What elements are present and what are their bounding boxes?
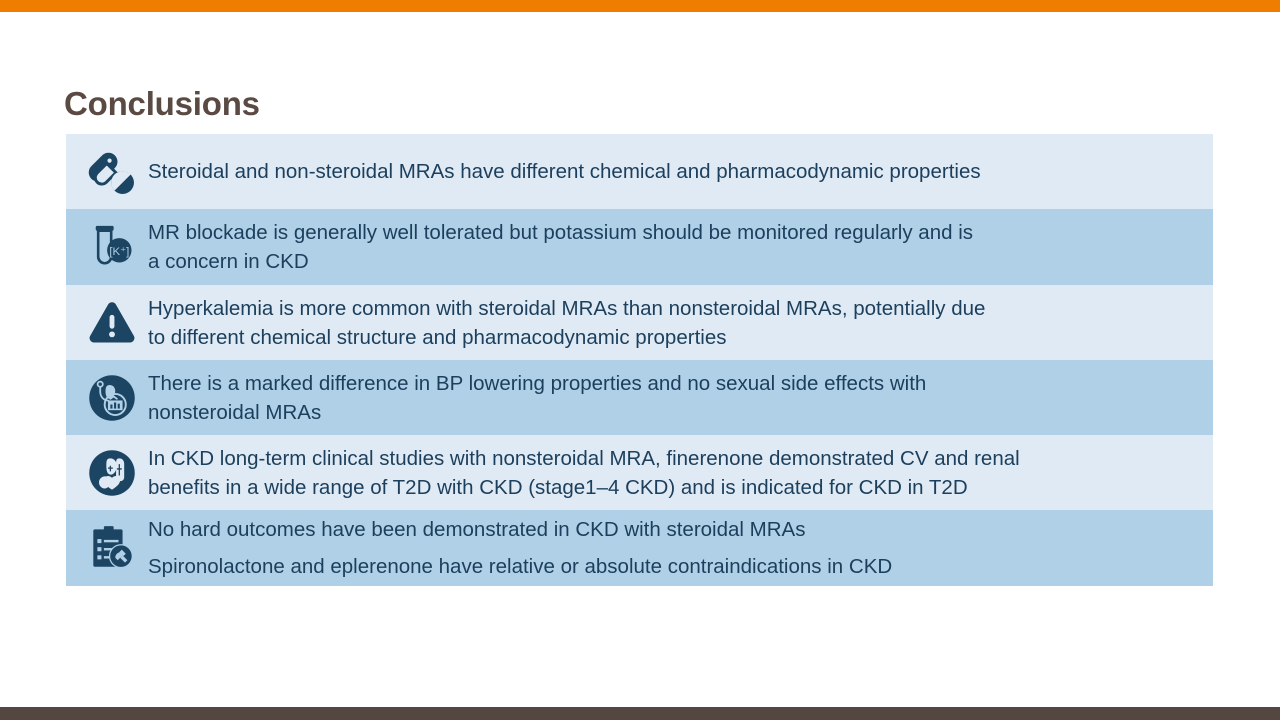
list-item: No hard outcomes have been demonstrated … bbox=[66, 510, 1213, 586]
pills-icon bbox=[76, 134, 147, 209]
list-item: In CKD long-term clinical studies with n… bbox=[66, 435, 1213, 510]
list-item-line: benefits in a wide range of T2D with CKD… bbox=[148, 473, 1205, 502]
list-item: [K⁺] MR blockade is generally well toler… bbox=[66, 209, 1213, 285]
list-item-line: to different chemical structure and phar… bbox=[148, 323, 1205, 352]
clipboard-report-icon bbox=[76, 510, 147, 586]
list-item: Steroidal and non-steroidal MRAs have di… bbox=[66, 134, 1213, 209]
list-item: There is a marked difference in BP lower… bbox=[66, 360, 1213, 435]
list-item-line: Spironolactone and eplerenone have relat… bbox=[148, 552, 1205, 581]
list-item-line: nonsteroidal MRAs bbox=[148, 398, 1205, 427]
list-item-line: In CKD long-term clinical studies with n… bbox=[148, 444, 1205, 473]
list-item-text: Steroidal and non-steroidal MRAs have di… bbox=[147, 157, 1213, 186]
list-item-text: Hyperkalemia is more common with steroid… bbox=[147, 294, 1213, 352]
list-item-text: There is a marked difference in BP lower… bbox=[147, 369, 1213, 427]
svg-text:[K⁺]: [K⁺] bbox=[109, 246, 129, 258]
list-item-line: Hyperkalemia is more common with steroid… bbox=[148, 294, 1205, 323]
list-item-line: No hard outcomes have been demonstrated … bbox=[148, 515, 1205, 544]
bottom-accent-bar bbox=[0, 707, 1280, 720]
list-item-line: MR blockade is generally well tolerated … bbox=[148, 218, 1205, 247]
list-item-line: Steroidal and non-steroidal MRAs have di… bbox=[148, 157, 1205, 186]
list-item: Hyperkalemia is more common with steroid… bbox=[66, 285, 1213, 360]
list-item-text: No hard outcomes have been demonstrated … bbox=[147, 515, 1213, 581]
top-accent-bar bbox=[0, 0, 1280, 12]
test-tube-potassium-icon: [K⁺] bbox=[76, 209, 147, 285]
kidney-heart-icon bbox=[76, 435, 147, 510]
conclusions-list: Steroidal and non-steroidal MRAs have di… bbox=[66, 134, 1213, 586]
list-item-line: a concern in CKD bbox=[148, 247, 1205, 276]
page-title: Conclusions bbox=[64, 84, 260, 124]
list-item-text: MR blockade is generally well tolerated … bbox=[147, 218, 1213, 276]
list-item-text: In CKD long-term clinical studies with n… bbox=[147, 444, 1213, 502]
list-item-line: There is a marked difference in BP lower… bbox=[148, 369, 1205, 398]
slide-root: Conclusions Steroidal and non-steroida bbox=[0, 0, 1280, 720]
warning-triangle-icon bbox=[76, 285, 147, 360]
blood-pressure-monitor-icon bbox=[76, 360, 147, 435]
